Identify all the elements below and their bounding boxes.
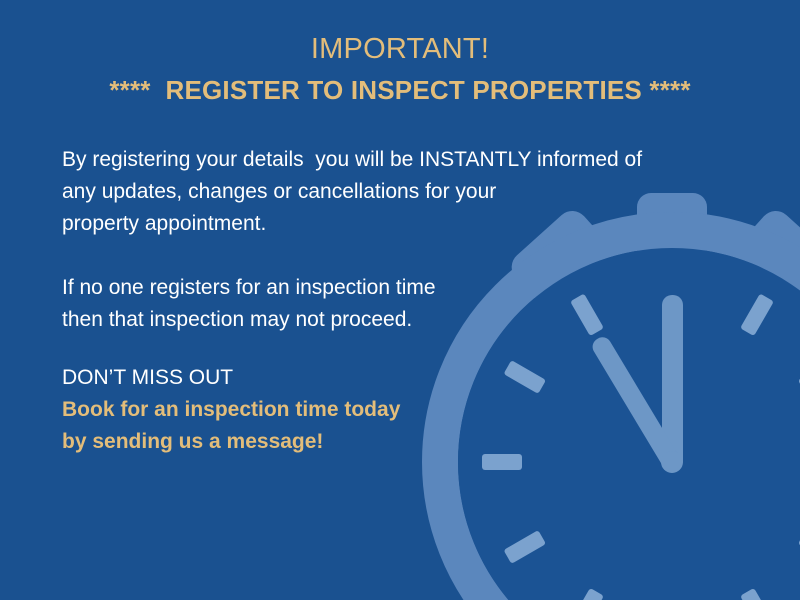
promotional-poster: IMPORTANT! **** REGISTER TO INSPECT PROP… <box>0 0 800 600</box>
heading-group: IMPORTANT! **** REGISTER TO INSPECT PROP… <box>0 30 800 108</box>
heading-important: IMPORTANT! <box>0 30 800 68</box>
paragraph-2-line-2: then that inspection may not proceed. <box>62 304 762 336</box>
paragraph-2-line-1: If no one registers for an inspection ti… <box>62 272 762 304</box>
paragraph-registering-details: By registering your details you will be … <box>62 144 762 240</box>
paragraph-no-registration-warning: If no one registers for an inspection ti… <box>62 272 762 336</box>
paragraph-1-line-2: any updates, changes or cancellations fo… <box>62 176 762 208</box>
heading-register-to-inspect: **** REGISTER TO INSPECT PROPERTIES **** <box>0 72 800 108</box>
cta-send-message: by sending us a message! <box>62 426 762 458</box>
paragraph-1-line-1: By registering your details you will be … <box>62 144 762 176</box>
cta-book-inspection: Book for an inspection time today <box>62 394 762 426</box>
paragraph-call-to-action: DON’T MISS OUT Book for an inspection ti… <box>62 362 762 458</box>
poster-text-layer: IMPORTANT! **** REGISTER TO INSPECT PROP… <box>0 0 800 600</box>
cta-dont-miss-out: DON’T MISS OUT <box>62 362 762 394</box>
paragraph-1-line-3: property appointment. <box>62 208 762 240</box>
